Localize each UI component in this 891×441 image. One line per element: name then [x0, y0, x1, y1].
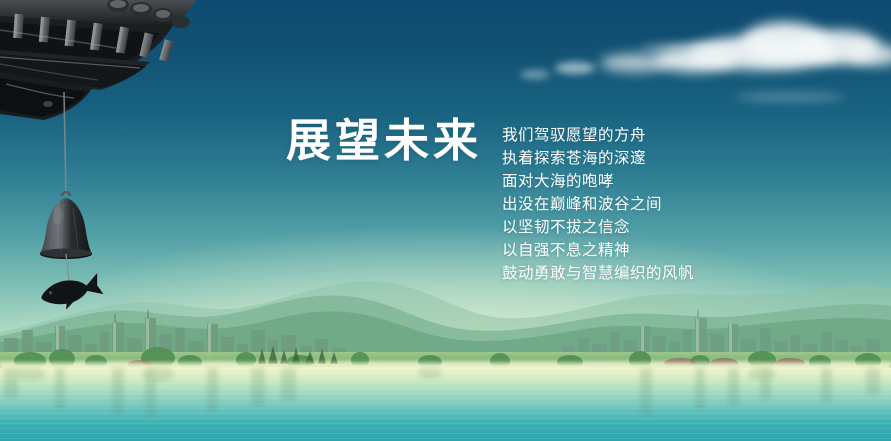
poem-line-7: 鼓动勇敢与智慧编织的风帆 [502, 262, 732, 285]
page-title: 展望未来 [286, 118, 482, 163]
wind-bell [26, 92, 136, 317]
poem-line-2: 执着探索苍海的深邃 [502, 147, 732, 170]
promotional-banner: 展望未来 我们驾驭愿望的方舟 执着探索苍海的深邃 面对大海的咆哮 出没在巅峰和波… [0, 0, 891, 441]
poem-line-1: 我们驾驭愿望的方舟 [502, 124, 732, 147]
poem-line-4: 出没在巅峰和波谷之间 [502, 193, 732, 216]
poem-line-3: 面对大海的咆哮 [502, 170, 732, 193]
poem-line-6: 以自强不息之精神 [502, 239, 732, 262]
poem-line-5: 以坚韧不拔之信念 [502, 216, 732, 239]
water-ripple-lines [0, 368, 891, 441]
poem-block: 我们驾驭愿望的方舟 执着探索苍海的深邃 面对大海的咆哮 出没在巅峰和波谷之间 以… [502, 124, 732, 285]
